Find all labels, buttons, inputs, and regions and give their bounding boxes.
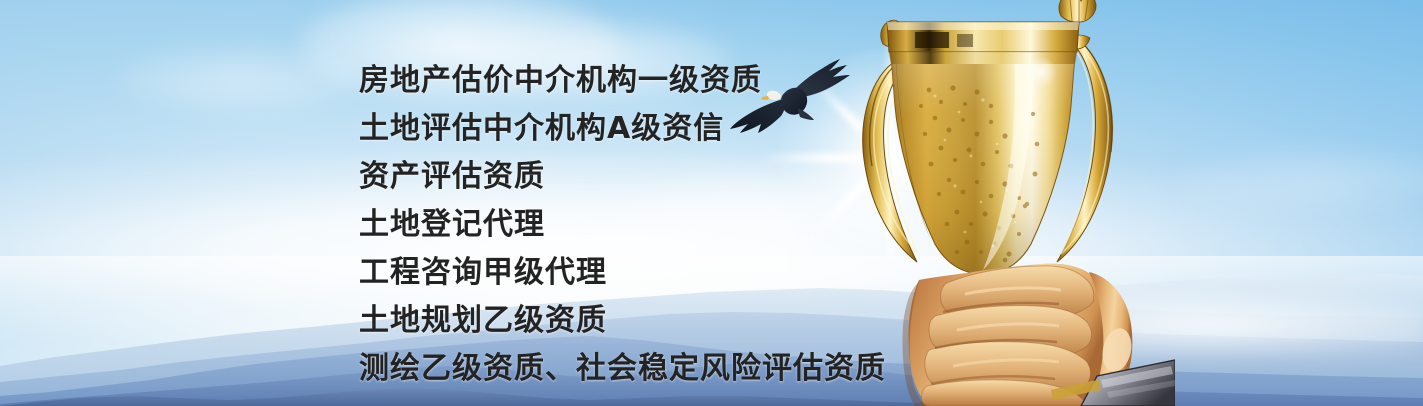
headline-line-3: 资产评估资质	[359, 153, 919, 201]
headline-line-1: 房地产估价中介机构一级资质	[359, 57, 919, 105]
headline-line-5: 工程咨询甲级代理	[359, 249, 919, 297]
headline-line-7: 测绘乙级资质、社会稳定风险评估资质	[359, 345, 919, 393]
headline-block: 房地产估价中介机构一级资质 土地评估中介机构A级资信 资产评估资质 土地登记代理…	[359, 57, 919, 393]
hero-banner: 房地产估价中介机构一级资质 土地评估中介机构A级资信 资产评估资质 土地登记代理…	[0, 0, 1423, 406]
trophy-sparkle	[1025, 56, 1057, 88]
headline-line-4: 土地登记代理	[359, 201, 919, 249]
headline-line-6: 土地规划乙级资质	[359, 297, 919, 345]
headline-line-2: 土地评估中介机构A级资信	[359, 105, 919, 153]
